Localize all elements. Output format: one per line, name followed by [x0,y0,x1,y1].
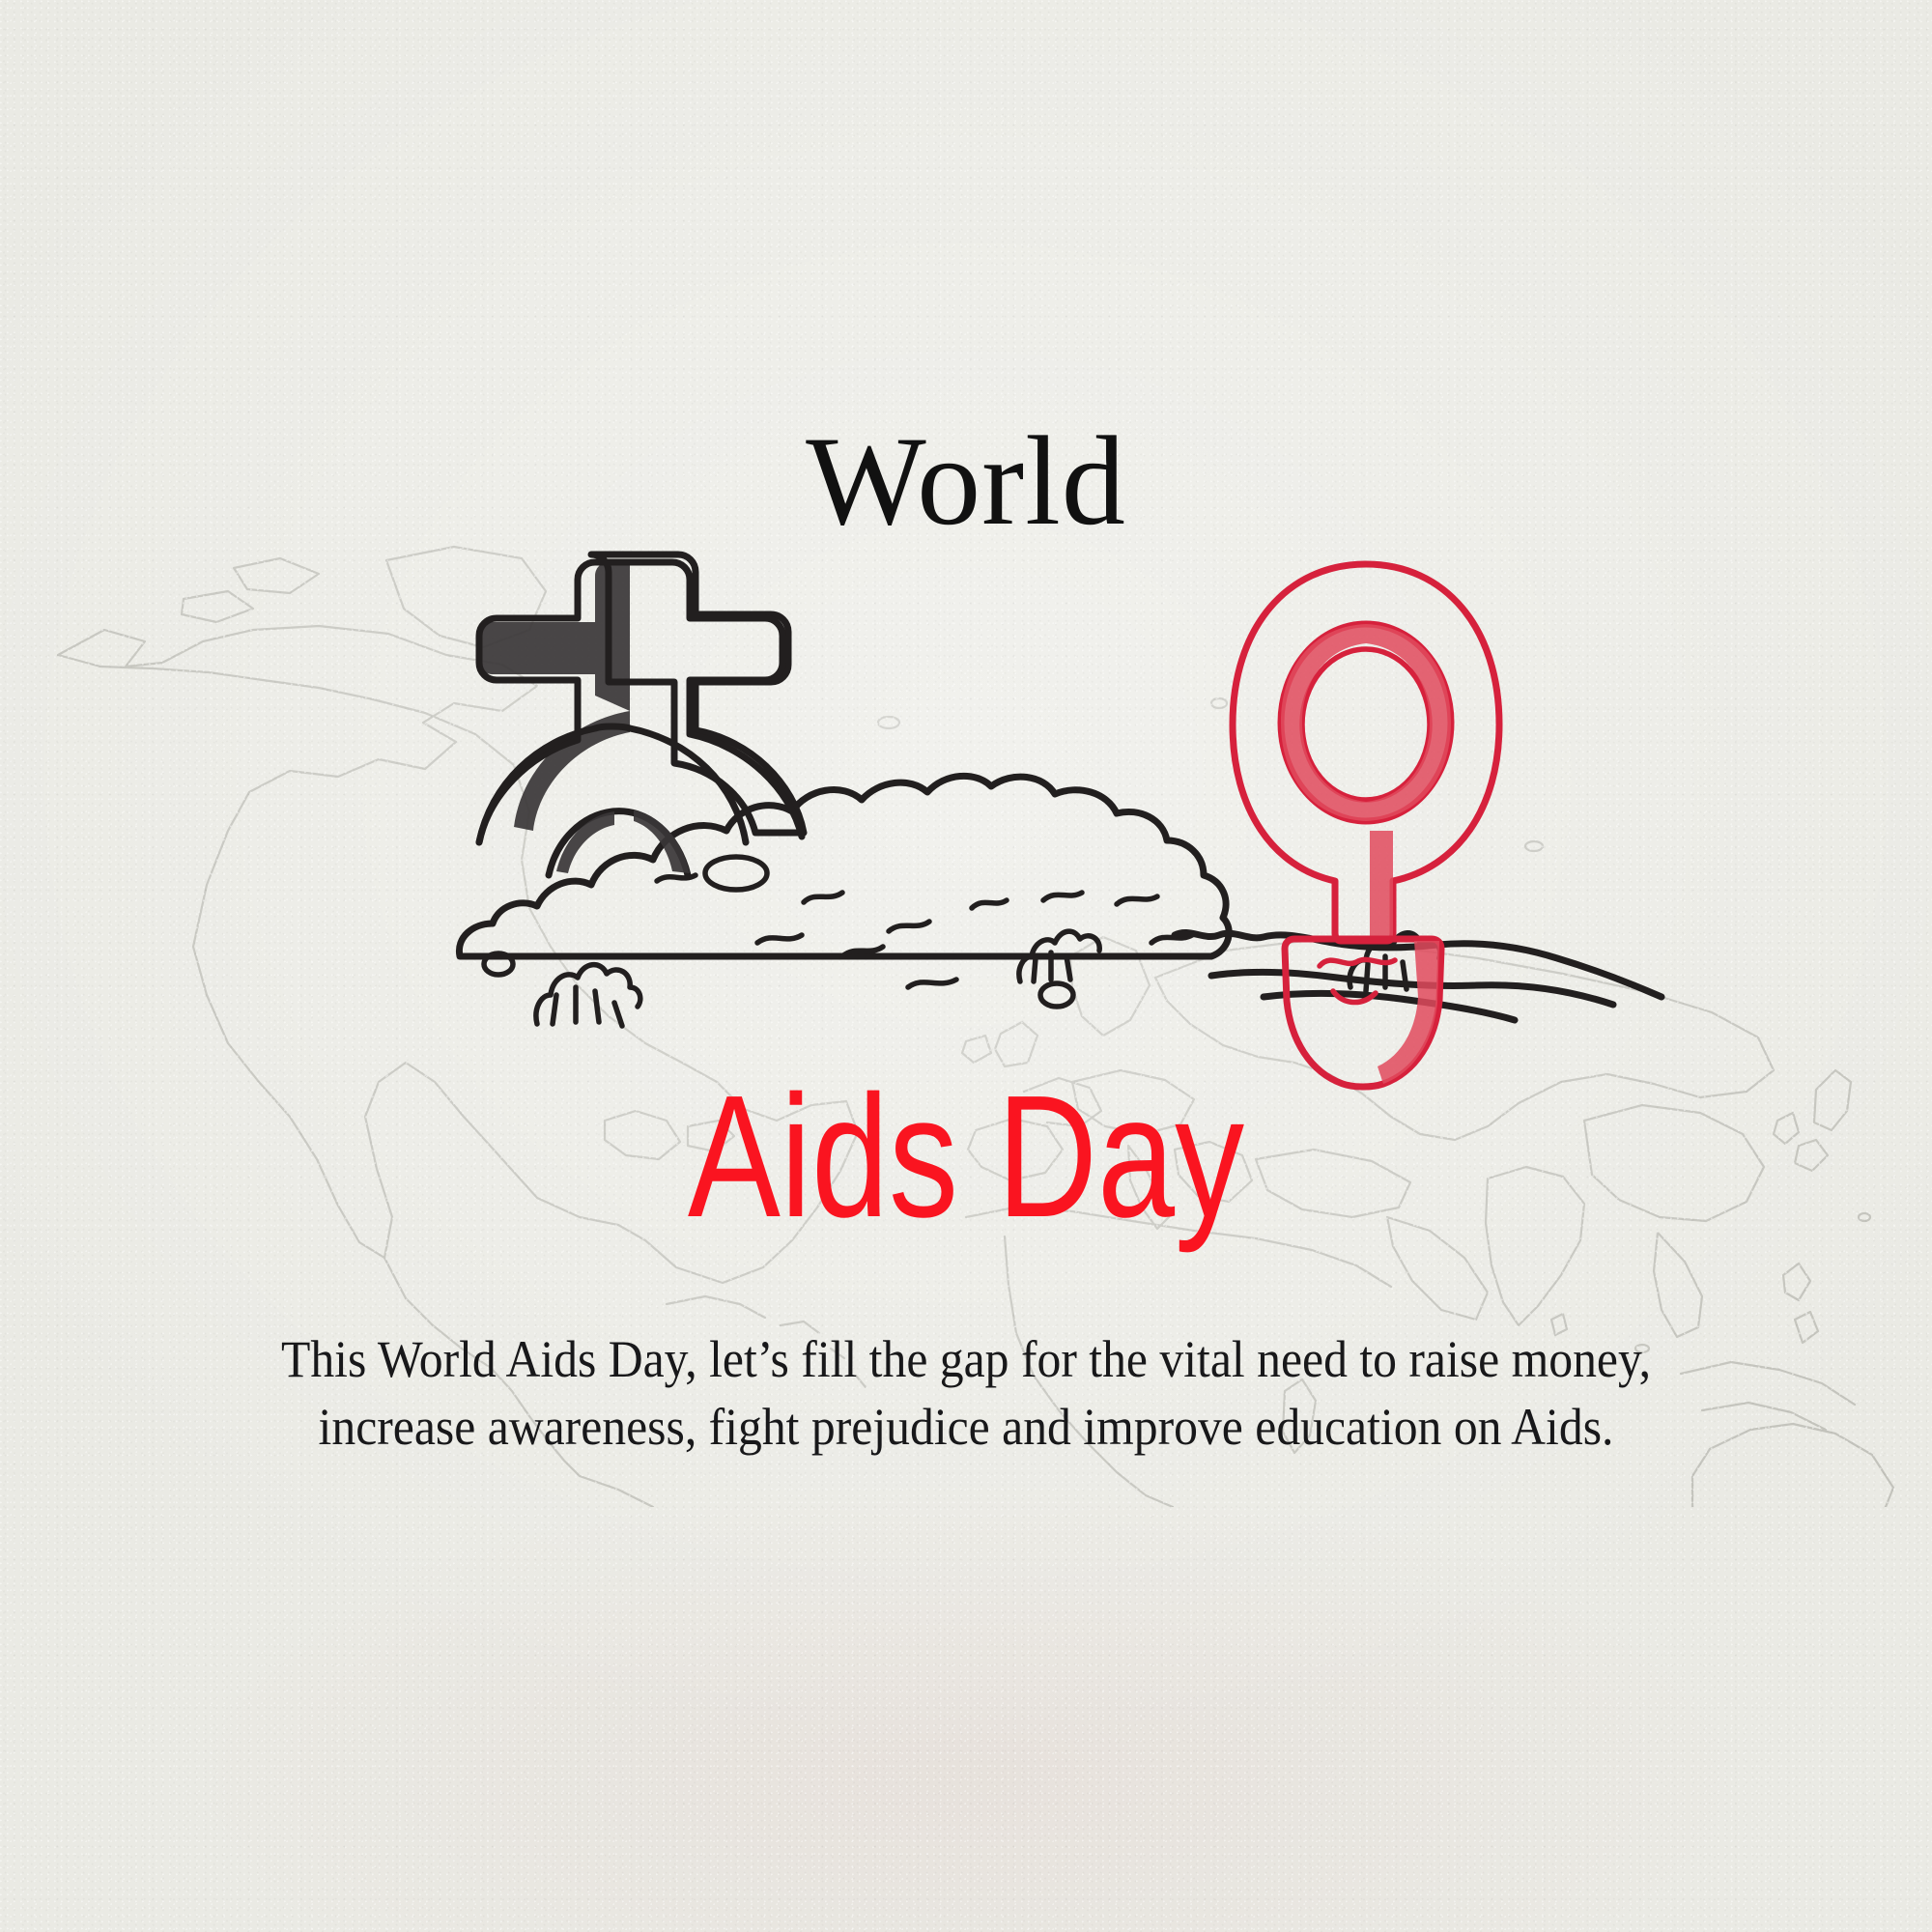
headline-world: World [0,417,1932,545]
headline-aids-day: Aids Day [193,1070,1739,1244]
grave-cross-headstone [479,554,804,875]
soil-mound [459,776,1229,1007]
poster-canvas: World Aids Day This World Aids Day, let’… [0,0,1932,1932]
grass-tuft-left [536,965,640,1026]
illustration-grave-and-symbol [367,541,1604,1063]
tagline-text: This World Aids Day, let’s fill the gap … [202,1325,1730,1461]
